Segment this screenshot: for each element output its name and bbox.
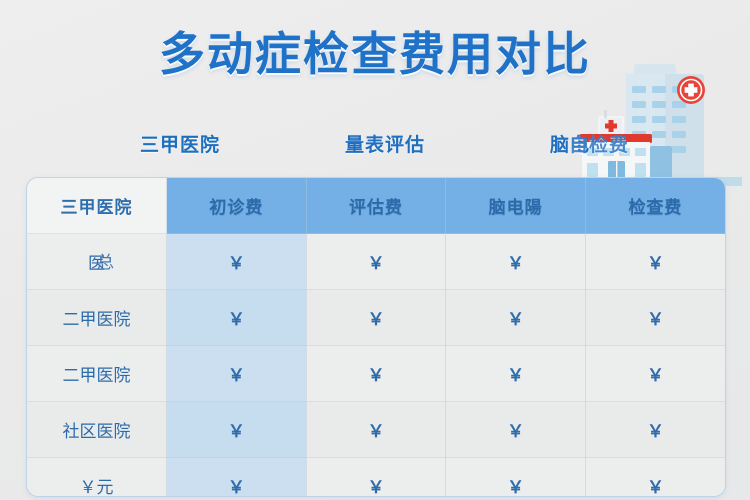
yen-symbol: ￥ (647, 422, 664, 442)
cell-3-2: ￥ (446, 402, 586, 458)
row-label-4: ￥元 (27, 458, 167, 498)
cell-4-2: ￥ (446, 458, 586, 498)
yen-symbol: ￥ (228, 310, 245, 330)
yen-symbol: ￥ (367, 478, 384, 497)
table-row: ￥元 ￥ ￥ ￥ ￥ (27, 458, 725, 498)
yen-symbol: ￥ (647, 478, 664, 497)
cell-2-2: ￥ (446, 346, 586, 402)
yen-symbol: ￥ (228, 254, 245, 274)
cell-1-2: ￥ (446, 290, 586, 346)
yen-symbol: ￥ (228, 478, 245, 497)
row-label-0-overlay: 总 (97, 248, 114, 273)
cell-0-1: ￥ (306, 234, 446, 290)
yen-symbol: ￥ (507, 254, 524, 274)
cell-3-1: ￥ (306, 402, 446, 458)
page-title: 多动症检查费用对比 (0, 18, 750, 84)
page-root: 多动症检查费用对比 三甲医院 量表评估 脑电自检费 (0, 0, 750, 500)
row-label-0: 医总 (27, 234, 167, 290)
yen-symbol: ￥ (367, 422, 384, 442)
cell-0-0: ￥ (167, 234, 307, 290)
cell-3-3: ￥ (585, 402, 725, 458)
yen-symbol: ￥ (367, 254, 384, 274)
table-row: 社区医院 ￥ ￥ ￥ ￥ (27, 402, 725, 458)
cell-1-1: ￥ (306, 290, 446, 346)
cell-4-3: ￥ (585, 458, 725, 498)
yen-symbol: ￥ (647, 366, 664, 386)
row-label-1: 二甲医院 (27, 290, 167, 346)
yen-symbol: ￥ (507, 310, 524, 330)
row-label-2: 二甲医院 (27, 346, 167, 402)
cost-comparison-table: 三甲医院 初诊费 评估费 脑电陽 检查费 医总 ￥ ￥ ￥ ￥ 二甲医院 ￥ (26, 177, 726, 497)
yen-symbol: ￥ (507, 366, 524, 386)
cell-4-0: ￥ (167, 458, 307, 498)
cell-4-1: ￥ (306, 458, 446, 498)
table-row: 医总 ￥ ￥ ￥ ￥ (27, 234, 725, 290)
subtitle-item-2: 量表评估 (345, 130, 425, 157)
yen-symbol: ￥ (228, 366, 245, 386)
cell-1-0: ￥ (167, 290, 307, 346)
cell-2-3: ￥ (585, 346, 725, 402)
table-header-cell-4: 检查费 (585, 178, 725, 234)
table-header-cell-1: 初诊费 (167, 178, 307, 234)
table-header-row: 三甲医院 初诊费 评估费 脑电陽 检查费 (27, 178, 725, 234)
table-row: 二甲医院 ￥ ￥ ￥ ￥ (27, 346, 725, 402)
subtitle-row: 三甲医院 量表评估 脑电自检费 (140, 130, 590, 157)
yen-symbol: ￥ (367, 310, 384, 330)
cell-3-0: ￥ (167, 402, 307, 458)
subtitle-item-3-overlay: 自检费 (569, 130, 629, 157)
cell-0-3: ￥ (585, 234, 725, 290)
subtitle-item-1: 三甲医院 (140, 130, 220, 157)
table-header-cell-3: 脑电陽 (446, 178, 586, 234)
yen-symbol: ￥ (647, 310, 664, 330)
yen-symbol: ￥ (228, 422, 245, 442)
cell-0-2: ￥ (446, 234, 586, 290)
table-header-cell-0: 三甲医院 (27, 178, 167, 234)
cell-2-1: ￥ (306, 346, 446, 402)
table-header-cell-2: 评估费 (306, 178, 446, 234)
table-row: 二甲医院 ￥ ￥ ￥ ￥ (27, 290, 725, 346)
subtitle-item-3: 脑电自检费 (550, 130, 590, 157)
row-label-3: 社区医院 (27, 402, 167, 458)
cell-2-0: ￥ (167, 346, 307, 402)
yen-symbol: ￥ (507, 478, 524, 497)
yen-symbol: ￥ (507, 422, 524, 442)
cell-1-3: ￥ (585, 290, 725, 346)
yen-symbol: ￥ (367, 366, 384, 386)
yen-symbol: ￥ (647, 254, 664, 274)
